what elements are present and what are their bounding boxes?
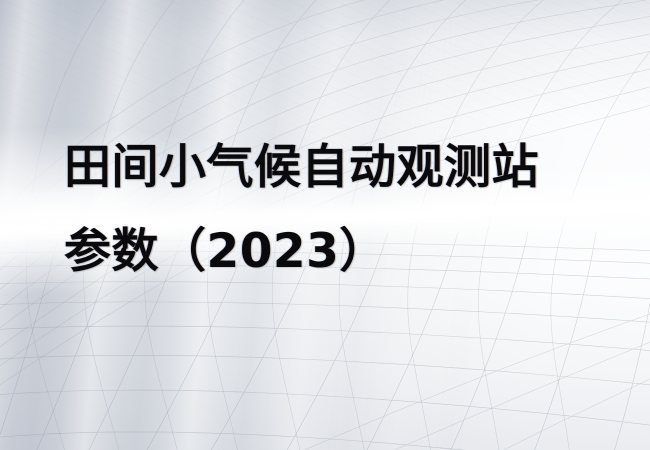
page-title-line-1: 田间小气候自动观测站 xyxy=(64,126,624,210)
page-title: 田间小气候自动观测站 参数（2023） xyxy=(64,126,624,294)
title-card-canvas: 田间小气候自动观测站 参数（2023） xyxy=(0,0,650,450)
page-title-line-2: 参数（2023） xyxy=(64,210,624,294)
